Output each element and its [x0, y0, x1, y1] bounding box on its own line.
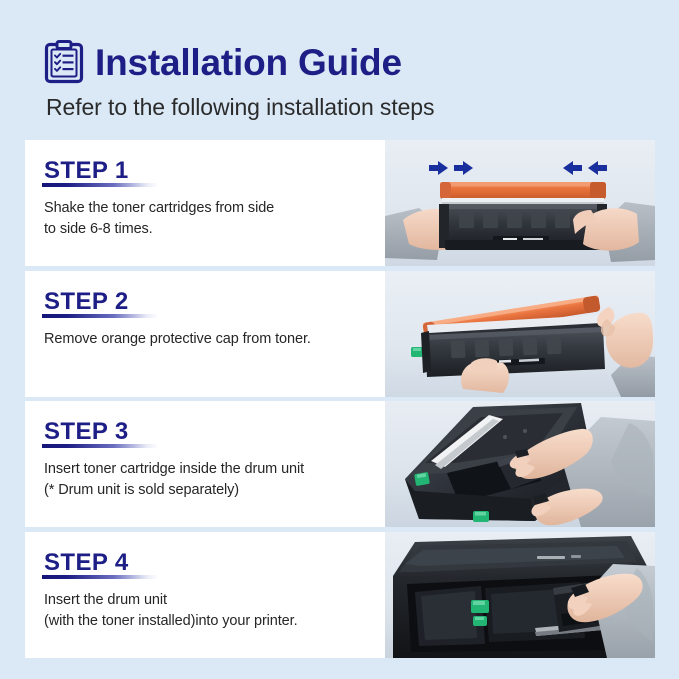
step-2-text-panel: STEP 2 Remove orange protective cap from…	[25, 271, 385, 397]
step-card-3: STEP 3 Insert toner cartridge inside the…	[25, 401, 655, 527]
step-1-description: Shake the toner cartridges from side to …	[44, 198, 374, 239]
step-2-underline	[42, 314, 158, 318]
photo-shake-toner-cartridge	[385, 140, 655, 266]
photo-remove-orange-cap	[385, 271, 655, 397]
page-title: Installation Guide	[95, 44, 402, 81]
step-card-1: STEP 1 Shake the toner cartridges from s…	[25, 140, 655, 266]
step-3-text-panel: STEP 3 Insert toner cartridge inside the…	[25, 401, 385, 527]
page-subtitle: Refer to the following installation step…	[46, 94, 434, 121]
clipboard-checklist-icon	[44, 40, 84, 84]
step-1-label: STEP 1	[44, 159, 129, 183]
step-3-label: STEP 3	[44, 420, 129, 444]
step-4-underline	[42, 575, 158, 579]
step-4-description: Insert the drum unit (with the toner ins…	[44, 590, 374, 631]
step-1-underline	[42, 183, 158, 187]
photo-insert-toner-into-drum	[385, 401, 655, 527]
step-1-text-panel: STEP 1 Shake the toner cartridges from s…	[25, 140, 385, 266]
step-card-2: STEP 2 Remove orange protective cap from…	[25, 271, 655, 397]
step-card-4: STEP 4 Insert the drum unit (with the to…	[25, 532, 655, 658]
guide-header: Installation Guide Refer to the followin…	[0, 0, 679, 140]
installation-guide-page: Installation Guide Refer to the followin…	[0, 0, 679, 679]
step-4-text-panel: STEP 4 Insert the drum unit (with the to…	[25, 532, 385, 658]
step-3-description: Insert toner cartridge inside the drum u…	[44, 459, 374, 500]
step-4-label: STEP 4	[44, 551, 129, 575]
step-2-description: Remove orange protective cap from toner.	[44, 329, 374, 350]
title-row: Installation Guide	[44, 40, 402, 84]
step-3-underline	[42, 444, 158, 448]
photo-insert-drum-into-printer	[385, 532, 655, 658]
step-2-label: STEP 2	[44, 290, 129, 314]
